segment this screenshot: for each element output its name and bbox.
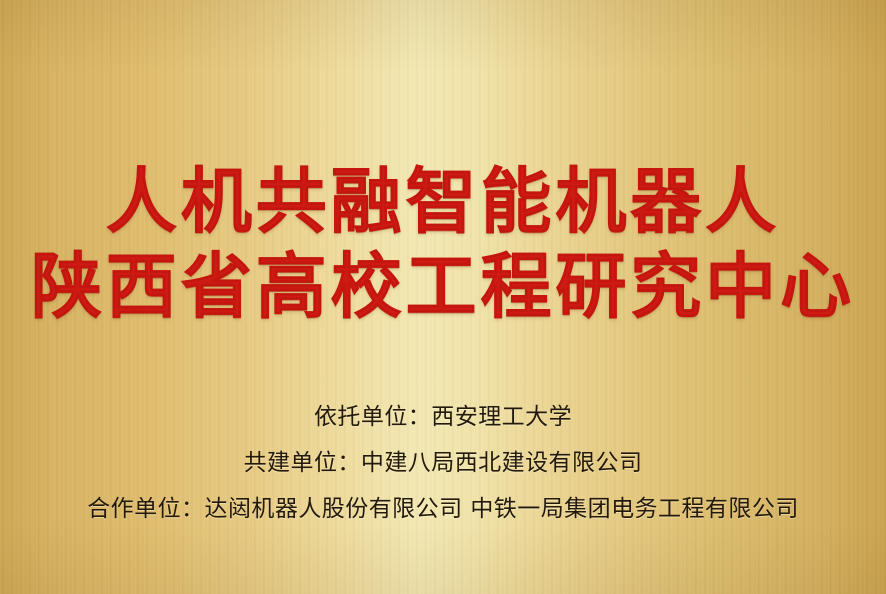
plaque-title: 人机共融智能机器人 陕西省高校工程研究中心 <box>0 166 886 322</box>
award-plaque: 人机共融智能机器人 陕西省高校工程研究中心 依托单位：西安理工大学 共建单位：中… <box>0 0 886 594</box>
credit-line-cooperating-units: 合作单位：达闼机器人股份有限公司 中铁一局集团电务工程有限公司 <box>0 486 886 532</box>
plaque-title-line-2: 陕西省高校工程研究中心 <box>0 251 886 322</box>
plaque-credits: 依托单位：西安理工大学 共建单位：中建八局西北建设有限公司 合作单位：达闼机器人… <box>0 394 886 532</box>
plaque-title-line-1: 人机共融智能机器人 <box>0 166 886 237</box>
credit-line-supporting-unit: 依托单位：西安理工大学 <box>0 394 886 440</box>
credit-line-co-建-unit: 共建单位：中建八局西北建设有限公司 <box>0 440 886 486</box>
